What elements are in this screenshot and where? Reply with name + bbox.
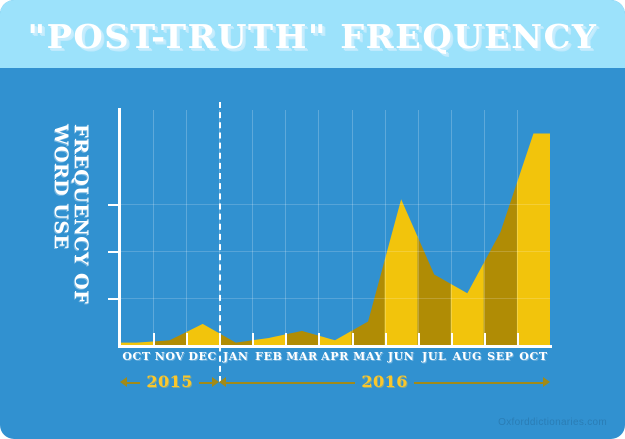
horizontal-gridline [120,204,550,205]
vertical-gridline [484,110,485,345]
vertical-gridline [385,110,386,345]
x-axis-tick [219,333,221,347]
horizontal-gridline [120,251,550,252]
area-segment [252,334,285,345]
x-axis-month-label: MAY [352,350,385,363]
area-segment [451,263,484,345]
area-segment [385,199,418,345]
x-axis-month-label: JUL [418,350,451,363]
area-segment [484,183,517,345]
area-segment [352,260,385,345]
x-axis-tick [517,333,519,347]
area-segment [418,237,451,345]
vertical-gridline [352,110,353,345]
vertical-gridline [318,110,319,345]
x-axis-tick [418,333,420,347]
x-axis-month-label: JAN [219,350,252,363]
x-axis-month-label: MAR [285,350,318,363]
year-band: 2015 [120,372,219,394]
x-axis-month-label: OCT [517,350,550,363]
x-axis-month-label: DEC [186,350,219,363]
x-axis-tick [352,333,354,347]
area-series [120,110,550,345]
x-axis-month-label: APR [318,350,351,363]
y-axis-label-line2: WORD USE [50,124,72,250]
y-axis-tick [108,251,119,253]
x-axis-tick [252,333,254,347]
area-segment [285,331,318,345]
x-axis-tick [318,333,320,347]
x-axis-tick [451,333,453,347]
header-band: "POST-TRUTH" FREQUENCY [0,0,625,68]
y-axis-label: FREQUENCY OF WORD USE [52,120,98,335]
vertical-gridline [252,110,253,345]
y-axis-tick [108,298,119,300]
page-title: "POST-TRUTH" FREQUENCY [0,17,625,56]
x-axis-tick [484,333,486,347]
x-axis-tick [186,333,188,347]
area-segment [318,331,351,345]
year-band-label: 2016 [219,372,550,391]
year-band-label: 2015 [120,372,219,391]
x-axis-month-label: SEP [484,350,517,363]
x-axis-month-label: FEB [252,350,285,363]
y-axis-label-line1: FREQUENCY OF [70,124,92,304]
x-axis-month-label: AUG [451,350,484,363]
x-axis-month-label: NOV [153,350,186,363]
x-axis-line [118,345,552,348]
area-segment [517,134,550,346]
infographic-canvas: "POST-TRUTH" FREQUENCY FREQUENCY OF WORD… [0,0,625,439]
x-axis-tick [385,333,387,347]
x-axis-month-label: OCT [120,350,153,363]
source-credit: Oxforddictionaries.com [498,417,607,428]
horizontal-gridline [120,298,550,299]
vertical-gridline [153,110,154,345]
vertical-gridline [517,110,518,345]
x-axis-tick [285,333,287,347]
area-segment [153,332,186,345]
x-axis-tick [153,333,155,347]
x-axis-month-label: JUN [385,350,418,363]
vertical-gridline [418,110,419,345]
vertical-gridline [285,110,286,345]
y-axis-line [118,108,121,347]
vertical-gridline [186,110,187,345]
year-band: 2016 [219,372,550,394]
area-segment [186,324,219,345]
y-axis-tick [108,204,119,206]
area-segment [219,333,252,345]
plot-area [120,110,550,345]
vertical-gridline [451,110,452,345]
